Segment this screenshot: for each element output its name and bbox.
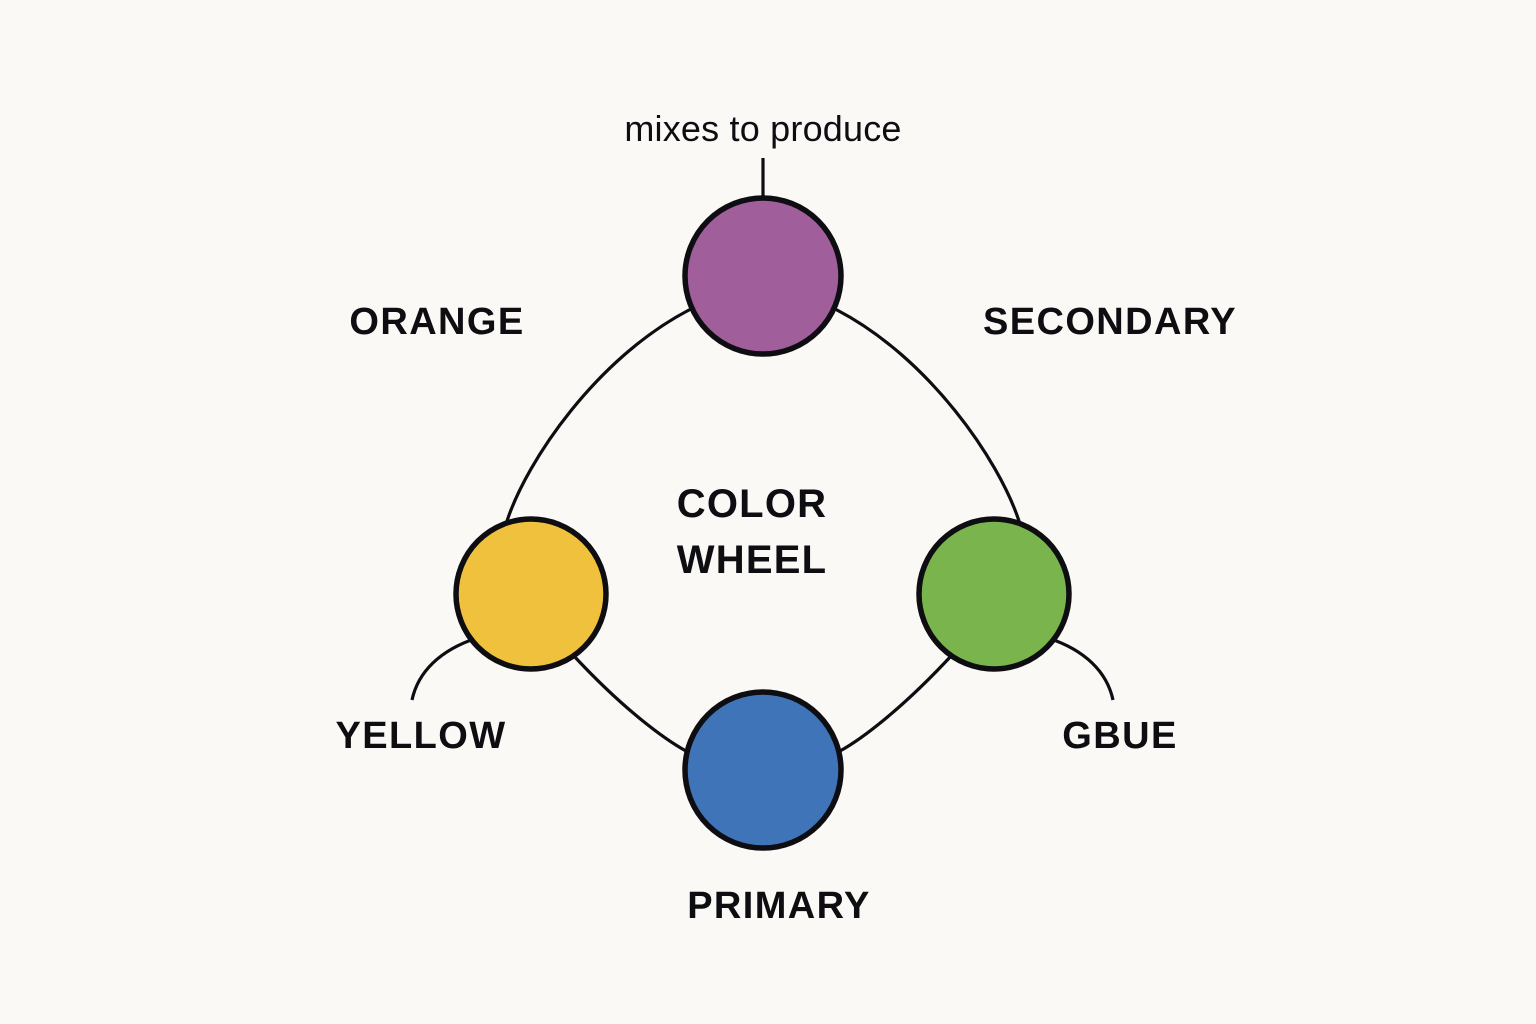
edge-purple-yellow	[507, 310, 689, 521]
diagram-canvas: mixes to produce COLOR WHEEL ORANGE SECO…	[0, 0, 1536, 1024]
label-orange: ORANGE	[349, 301, 524, 343]
label-blue: GBUE	[1062, 715, 1177, 757]
edge-yellow-blue	[573, 655, 686, 751]
edge-group	[507, 310, 1019, 751]
stub-yellow-to-label	[412, 638, 477, 700]
relation-label: mixes to produce	[624, 108, 901, 149]
purple-circle-node[interactable]	[685, 198, 841, 354]
stub-green-to-label	[1048, 638, 1113, 700]
label-yellow: YELLOW	[336, 715, 507, 757]
center-title-line1: COLOR	[677, 482, 827, 526]
center-title-line2: WHEEL	[677, 538, 827, 582]
edge-green-blue	[840, 655, 952, 751]
label-secondary: SECONDARY	[983, 301, 1237, 343]
green-circle-node[interactable]	[919, 519, 1069, 669]
color-wheel-diagram: mixes to produce COLOR WHEEL ORANGE SECO…	[0, 0, 1536, 1024]
blue-circle-node[interactable]	[685, 692, 841, 848]
label-primary: PRIMARY	[687, 885, 871, 927]
yellow-circle-node[interactable]	[456, 519, 606, 669]
